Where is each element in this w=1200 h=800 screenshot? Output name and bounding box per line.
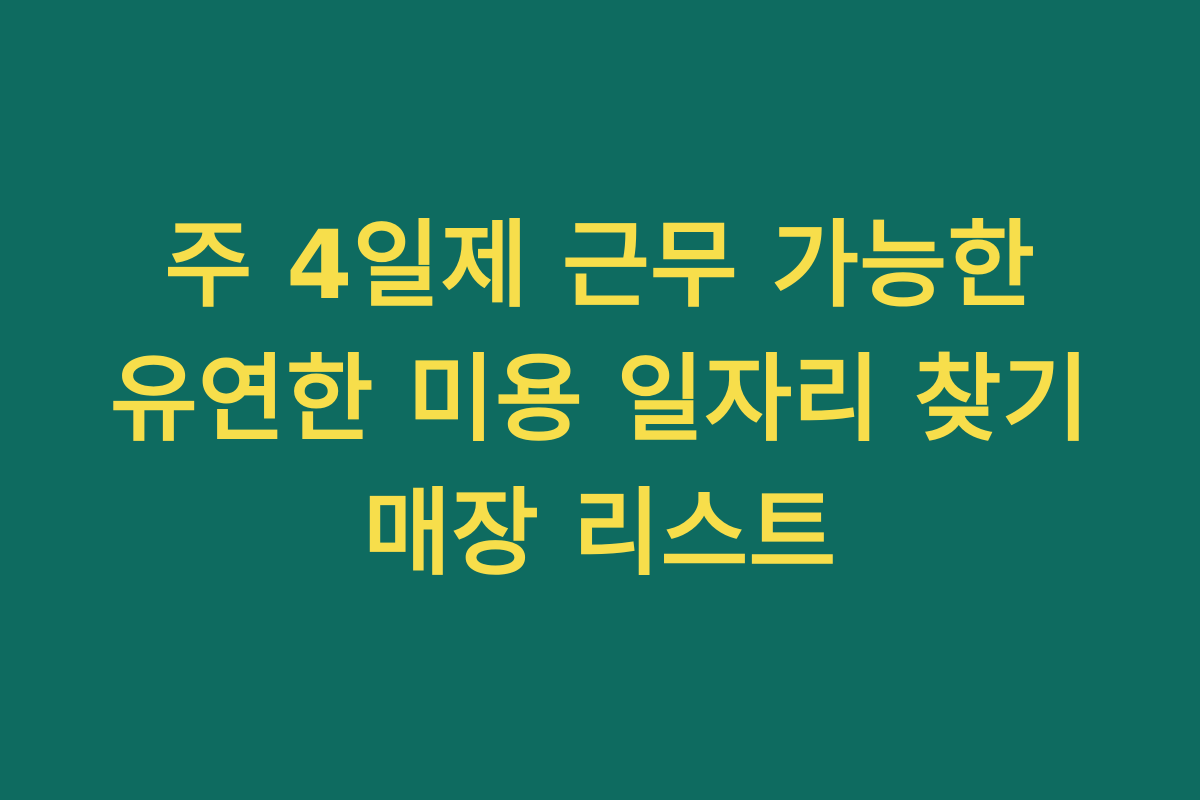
headline-line-2: 유연한 미용 일자리 찾기 [110,333,1090,467]
headline-block: 주 4일제 근무 가능한 유연한 미용 일자리 찾기 매장 리스트 [0,199,1200,601]
headline-line-3: 매장 리스트 [363,467,836,601]
banner-canvas: 주 4일제 근무 가능한 유연한 미용 일자리 찾기 매장 리스트 [0,0,1200,800]
headline-line-1: 주 4일제 근무 가능한 [165,199,1036,333]
